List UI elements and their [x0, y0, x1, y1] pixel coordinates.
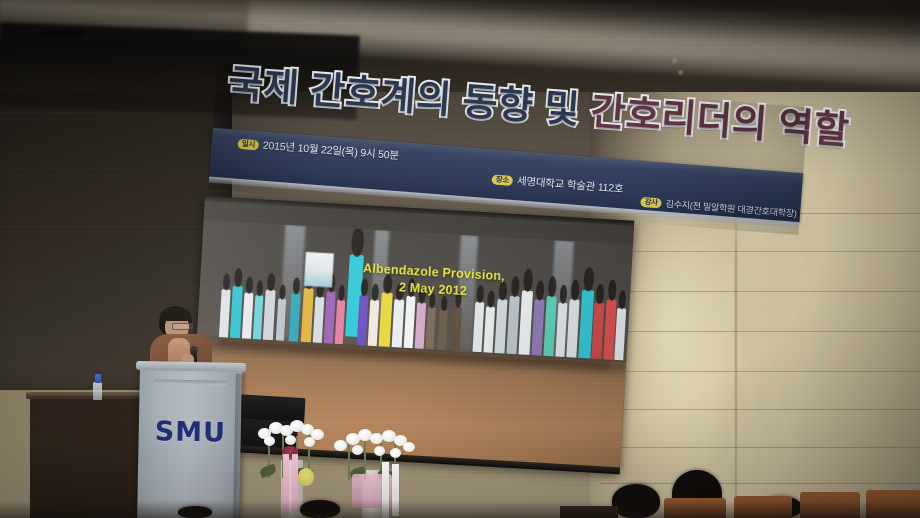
podium-slot [154, 379, 228, 385]
ceiling-spot-light [678, 70, 683, 75]
orchid-bloom [334, 440, 347, 451]
bottle-cap [95, 374, 101, 383]
glasses-icon [172, 323, 193, 330]
orchid-bloom [374, 446, 385, 456]
orchid-bloom [285, 435, 296, 445]
banner-venue-tag: 장소 [491, 174, 513, 186]
orchid-bloom [304, 437, 315, 447]
ceiling-spot-light [672, 58, 677, 63]
ceiling-fixture-notch [40, 28, 86, 38]
orchid-bloom [264, 436, 275, 446]
ceiling [0, 0, 920, 92]
podium-logo: SMU [154, 416, 226, 448]
speaker-fringe [160, 308, 191, 321]
orchid-bloom [352, 445, 363, 455]
accent-bloom [298, 468, 314, 486]
banner-venue-text: 세명대학교 학술관 112호 [516, 173, 624, 196]
banner-speaker-tag: 강사 [640, 196, 662, 208]
right-wall-corner-edge [735, 186, 737, 518]
lecture-hall-photo: 국제 간호계의 동향 및 간호리더의 역할 일시 2015년 10월 22일(목… [0, 0, 920, 518]
podium: SMU [137, 366, 242, 518]
foreground-floor-shadow [0, 500, 920, 518]
orchid-bloom [403, 442, 415, 452]
bottle-body [93, 382, 102, 400]
banner-date-tag: 일시 [237, 138, 259, 150]
podium-body: SMU [137, 366, 242, 518]
orchid-bloom [390, 448, 401, 458]
banner-detail-venue: 장소 세명대학교 학술관 112호 [491, 171, 624, 196]
water-bottle [93, 374, 102, 400]
right-wall-light-wash [622, 200, 740, 518]
